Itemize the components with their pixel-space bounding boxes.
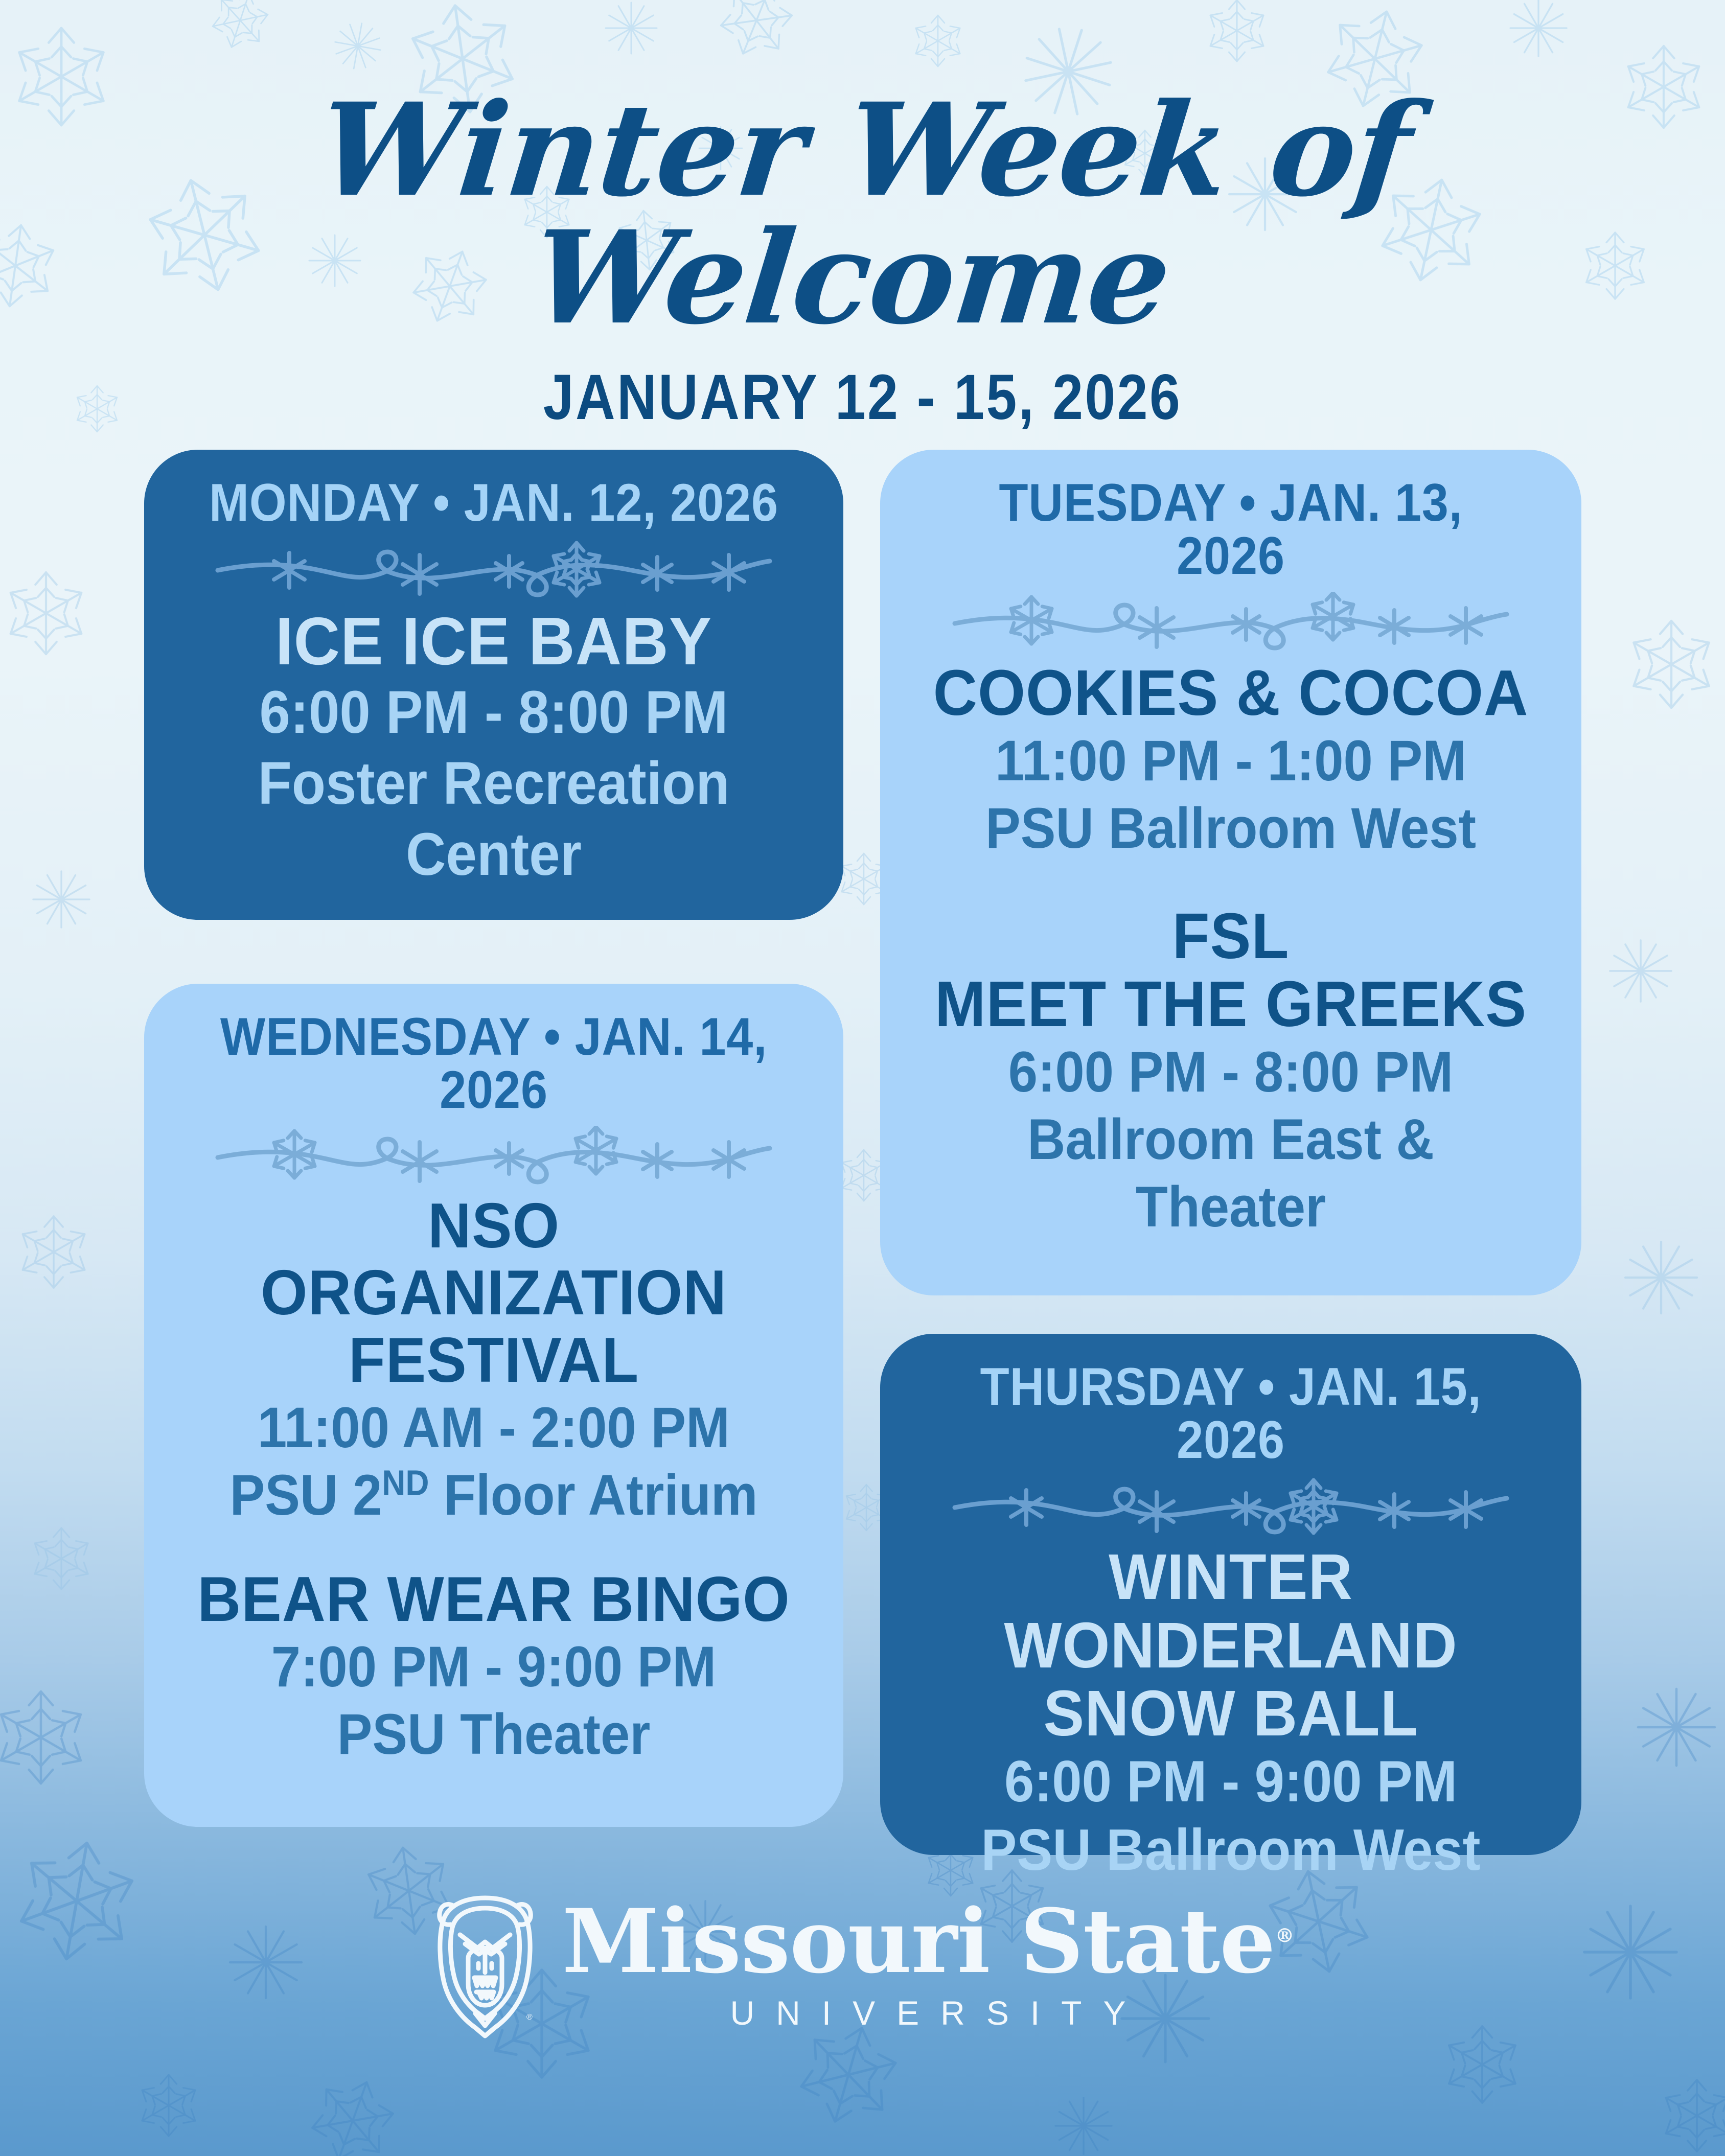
location-suffix: Floor Atrium	[429, 1463, 758, 1527]
event-location: Foster Recreation Center	[200, 748, 787, 890]
card-daydate-monday: MONDAY • JAN. 12, 2026	[206, 476, 780, 529]
event-name-line2: SNOW BALL	[927, 1679, 1534, 1748]
snowflake-divider-icon	[208, 1126, 780, 1190]
event-name: COOKIES & COCOA	[927, 659, 1534, 727]
event-block: NSO ORGANIZATION FESTIVAL 11:00 AM - 2:0…	[175, 1193, 813, 1529]
event-location: PSU Ballroom West	[936, 795, 1525, 862]
event-card-monday[interactable]: MONDAY • JAN. 12, 2026	[144, 450, 843, 920]
event-cards-grid: MONDAY • JAN. 12, 2026	[0, 0, 1725, 2156]
event-block: FSL MEET THE GREEKS 6:00 PM - 8:00 PM Ba…	[911, 902, 1551, 1241]
event-name-line2: FESTIVAL	[191, 1327, 797, 1394]
event-name: BEAR WEAR BINGO	[191, 1566, 797, 1633]
event-location: PSU 2ND Floor Atrium	[200, 1462, 787, 1529]
poster-canvas: Winter Week of Welcome JANUARY 12 - 15, …	[0, 0, 1725, 2156]
location-ordinal-suffix: ND	[382, 1463, 429, 1503]
event-block: BEAR WEAR BINGO 7:00 PM - 9:00 PM PSU Th…	[175, 1566, 813, 1769]
event-name-line1: FSL	[927, 902, 1534, 970]
logo-subtitle: UNIVERSITY	[708, 1993, 1147, 2032]
card-daydate-wednesday: WEDNESDAY • JAN. 14, 2026	[206, 1010, 780, 1117]
event-name-line2: MEET THE GREEKS	[927, 970, 1534, 1038]
event-name: ICE ICE BABY	[191, 606, 797, 677]
registered-mark: ®	[1275, 1924, 1294, 1947]
event-time: 7:00 PM - 9:00 PM	[200, 1633, 787, 1701]
event-location: PSU Theater	[200, 1701, 787, 1768]
wordmark: Missouri State® UNIVERSITY	[562, 1897, 1294, 2032]
event-block: COOKIES & COCOA 11:00 PM - 1:00 PM PSU B…	[911, 659, 1551, 862]
event-block: WINTER WONDERLAND SNOW BALL 6:00 PM - 9:…	[911, 1543, 1551, 1885]
svg-text:®: ®	[526, 2013, 533, 2022]
card-daydate-tuesday: TUESDAY • JAN. 13, 2026	[943, 476, 1519, 583]
event-card-thursday[interactable]: THURSDAY • JAN. 15, 2026	[880, 1334, 1581, 1855]
event-time: 6:00 PM - 9:00 PM	[936, 1748, 1525, 1817]
snowflake-divider-icon	[945, 1476, 1517, 1540]
snowflake-divider-icon	[208, 539, 780, 602]
event-name-line1: NSO ORGANIZATION	[191, 1193, 797, 1327]
bear-head-icon: ®	[431, 1891, 539, 2039]
event-time: 11:00 PM - 1:00 PM	[936, 727, 1525, 795]
event-card-wednesday[interactable]: WEDNESDAY • JAN. 14, 2026	[144, 984, 843, 1827]
card-daydate-thursday: THURSDAY • JAN. 15, 2026	[943, 1360, 1519, 1467]
university-logo: ® Missouri State® UNIVERSITY	[0, 1891, 1725, 2039]
location-prefix: PSU 2	[229, 1463, 382, 1527]
event-location: Ballroom East & Theater	[936, 1106, 1525, 1241]
event-time: 6:00 PM - 8:00 PM	[200, 677, 787, 748]
event-card-tuesday[interactable]: TUESDAY • JAN. 13, 2026	[880, 450, 1581, 1295]
event-name-line1: WINTER WONDERLAND	[927, 1543, 1534, 1679]
snowflake-divider-icon	[945, 592, 1517, 656]
event-location: PSU Ballroom West	[936, 1816, 1525, 1885]
event-block: ICE ICE BABY 6:00 PM - 8:00 PM Foster Re…	[175, 606, 813, 891]
event-time: 11:00 AM - 2:00 PM	[200, 1394, 787, 1462]
logo-name: Missouri State®	[562, 1897, 1294, 1985]
event-time: 6:00 PM - 8:00 PM	[936, 1038, 1525, 1106]
